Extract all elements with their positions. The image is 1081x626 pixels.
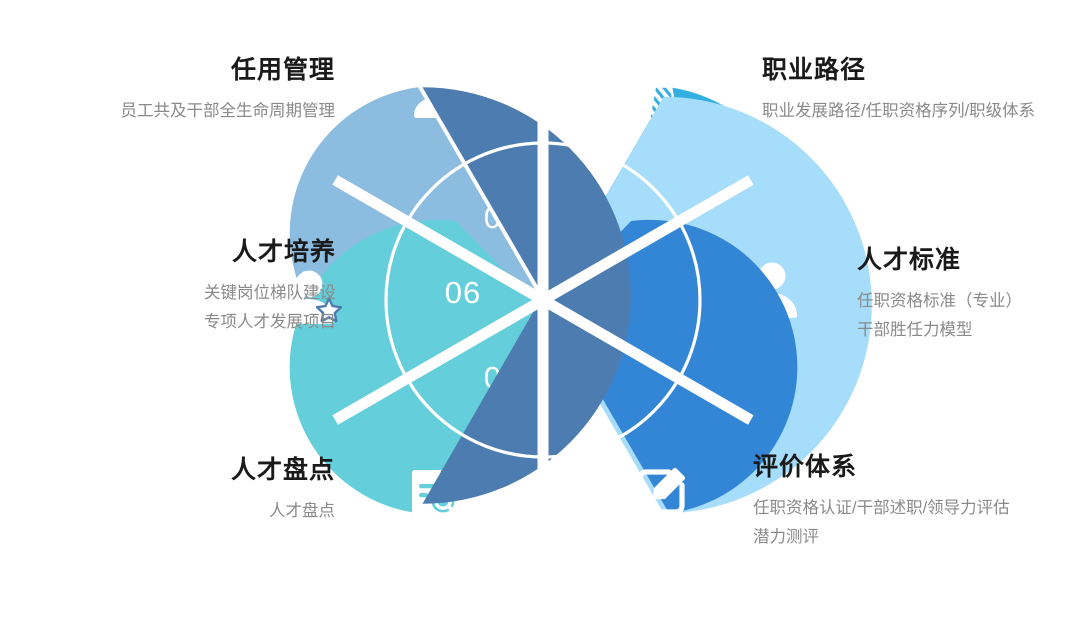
label-06-title: 人才培养 [204, 240, 336, 265]
label-05-subtitle-line-1: 人才盘点 [231, 497, 335, 526]
label-group-02: 职业路径 职业发展路径/任职资格序列/职级体系 [762, 58, 1035, 126]
label-02-title: 职业路径 [762, 58, 1035, 83]
label-03-subtitle-line-1: 任职资格标准（专业） [857, 287, 1022, 316]
label-04-subtitle-line-2: 潜力测评 [753, 523, 1010, 552]
label-06-subtitle-line-1: 关键岗位梯队建设 [204, 279, 336, 308]
label-group-06: 人才培养 关键岗位梯队建设 专项人才发展项目 [204, 240, 336, 337]
label-group-05: 人才盘点 人才盘点 [231, 458, 335, 526]
label-01-subtitle-line-1: 员工共及干部全生命周期管理 [121, 97, 336, 126]
label-05-title: 人才盘点 [231, 458, 335, 483]
diagram-canvas: 01 02 03 [0, 0, 1081, 626]
label-06-subtitle-line-2: 专项人才发展项目 [204, 308, 336, 337]
label-group-04: 评价体系 任职资格认证/干部述职/领导力评估 潜力测评 [753, 455, 1010, 552]
label-group-03: 人才标准 任职资格标准（专业） 干部胜任力模型 [857, 248, 1022, 345]
label-04-subtitle-line-1: 任职资格认证/干部述职/领导力评估 [753, 494, 1010, 523]
label-01-title: 任用管理 [121, 58, 336, 83]
label-02-subtitle-line-1: 职业发展路径/任职资格序列/职级体系 [762, 97, 1035, 126]
label-04-title: 评价体系 [753, 455, 1010, 480]
petal-06-number: 06 [445, 275, 481, 310]
label-group-01: 任用管理 员工共及干部全生命周期管理 [121, 58, 336, 126]
label-03-title: 人才标准 [857, 248, 1022, 273]
label-03-subtitle-line-2: 干部胜任力模型 [857, 316, 1022, 345]
